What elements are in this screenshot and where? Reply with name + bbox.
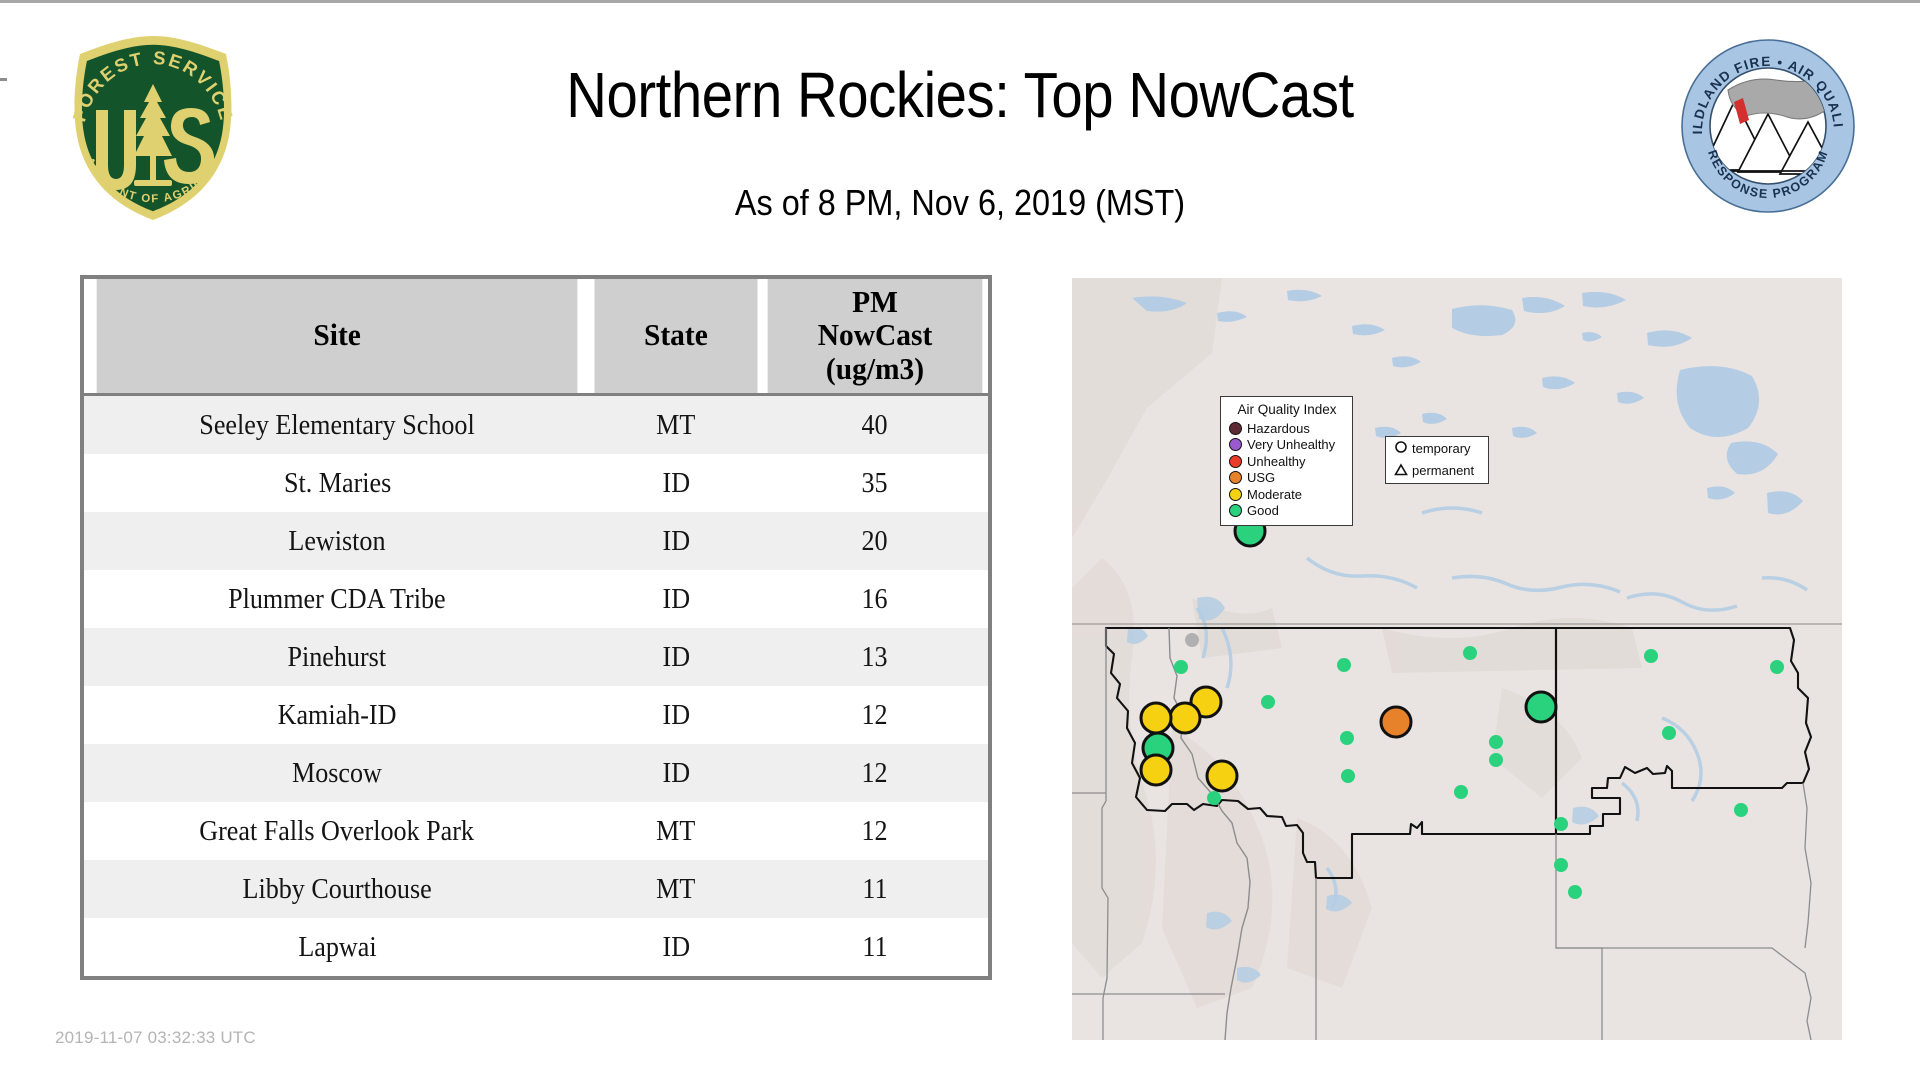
- legend-item-unhealthy: Unhealthy: [1229, 453, 1345, 470]
- table-cell-value-text: 35: [862, 469, 888, 498]
- table-cell-value-text: 13: [862, 643, 888, 672]
- table-cell-value-text: 11: [862, 875, 887, 904]
- legend-permanent-row: permanent: [1386, 459, 1488, 481]
- column-header-state-label: State: [644, 317, 708, 352]
- monitor-point[interactable]: [1170, 703, 1200, 733]
- table-cell-value-text: 40: [862, 411, 888, 440]
- monitor-point[interactable]: [1554, 858, 1568, 872]
- table-cell-value: 35: [762, 454, 988, 512]
- table-row: Plummer CDA TribeID16: [84, 570, 988, 628]
- legend-temporary-row: temporary: [1386, 437, 1488, 459]
- legend-item-label: Very Unhealthy: [1247, 438, 1335, 451]
- table-cell-state: MT: [590, 802, 762, 860]
- table-row: MoscowID12: [84, 744, 988, 802]
- legend-permanent-label: permanent: [1412, 464, 1474, 477]
- table-cell-state: ID: [590, 628, 762, 686]
- table-cell-state-text: ID: [662, 643, 690, 672]
- monitor-point[interactable]: [1174, 660, 1188, 674]
- monitor-point[interactable]: [1341, 769, 1355, 783]
- legend-item-very-unhealthy: Very Unhealthy: [1229, 437, 1345, 454]
- table-cell-site-text: Great Falls Overlook Park: [200, 817, 475, 846]
- legend-item-label: USG: [1247, 471, 1275, 484]
- table-cell-site-text: St. Maries: [283, 469, 390, 498]
- table-cell-state: ID: [590, 454, 762, 512]
- monitor-point[interactable]: [1141, 703, 1171, 733]
- table-cell-state: MT: [590, 860, 762, 918]
- table-cell-site-text: Pinehurst: [288, 643, 387, 672]
- table-cell-value: 40: [762, 395, 988, 455]
- circle-outline-icon: [1390, 441, 1412, 455]
- table-row: LewistonID20: [84, 512, 988, 570]
- table-cell-state-text: ID: [662, 933, 690, 962]
- table-cell-site: Pinehurst: [84, 628, 590, 686]
- monitor-point[interactable]: [1526, 692, 1556, 722]
- table-cell-site-text: Libby Courthouse: [242, 875, 431, 904]
- table-row: St. MariesID35: [84, 454, 988, 512]
- table-cell-value-text: 20: [862, 527, 888, 556]
- legend-color-swatch-icon: [1229, 438, 1242, 451]
- legend-temporary-label: temporary: [1412, 442, 1471, 455]
- table-cell-value: 11: [762, 860, 988, 918]
- table-cell-site: Moscow: [84, 744, 590, 802]
- table-cell-site-text: Seeley Elementary School: [199, 411, 474, 440]
- page-title: Northern Rockies: Top NowCast: [379, 62, 1541, 129]
- table-cell-site-text: Moscow: [292, 759, 382, 788]
- table-row: LapwaiID11: [84, 918, 988, 976]
- legend-title: Air Quality Index: [1229, 402, 1345, 417]
- air-quality-index-legend: Air Quality Index HazardousVery Unhealth…: [1220, 396, 1353, 526]
- table-cell-site: Libby Courthouse: [84, 860, 590, 918]
- table-row: Kamiah-IDID12: [84, 686, 988, 744]
- legend-color-swatch-icon: [1229, 504, 1242, 517]
- column-header-state: State: [595, 279, 758, 395]
- site-type-legend: temporary permanent: [1385, 436, 1489, 484]
- table-cell-value: 16: [762, 570, 988, 628]
- legend-item-label: Hazardous: [1247, 422, 1310, 435]
- monitor-point[interactable]: [1337, 658, 1351, 672]
- table-cell-state-text: ID: [662, 701, 690, 730]
- column-header-pm-line2: NowCast: [768, 318, 983, 351]
- table-cell-state-text: ID: [662, 469, 690, 498]
- table-row: PinehurstID13: [84, 628, 988, 686]
- table-cell-site: Seeley Elementary School: [84, 395, 590, 455]
- monitor-point[interactable]: [1568, 885, 1582, 899]
- table-cell-value-text: 16: [862, 585, 888, 614]
- legend-color-swatch-icon: [1229, 455, 1242, 468]
- table-cell-site-text: Lewiston: [289, 527, 386, 556]
- table-cell-state: ID: [590, 744, 762, 802]
- legend-item-usg: USG: [1229, 470, 1345, 487]
- column-header-pm-nowcast: PM NowCast (ug/m3): [768, 279, 983, 395]
- triangle-outline-icon: [1390, 463, 1412, 477]
- monitor-point[interactable]: [1662, 726, 1676, 740]
- table-cell-site: Kamiah-ID: [84, 686, 590, 744]
- monitor-point[interactable]: [1454, 785, 1468, 799]
- legend-item-good: Good: [1229, 503, 1345, 520]
- table-row: Great Falls Overlook ParkMT12: [84, 802, 988, 860]
- table-cell-site: Lapwai: [84, 918, 590, 976]
- table-cell-value: 20: [762, 512, 988, 570]
- table-cell-site: Plummer CDA Tribe: [84, 570, 590, 628]
- table-cell-state-text: MT: [657, 411, 696, 440]
- column-header-site: Site: [97, 279, 578, 395]
- table-cell-value: 13: [762, 628, 988, 686]
- table-cell-value-text: 12: [862, 701, 888, 730]
- table-cell-state-text: MT: [657, 817, 696, 846]
- table-cell-site-text: Kamiah-ID: [278, 701, 397, 730]
- table-cell-state: MT: [590, 395, 762, 455]
- monitor-point[interactable]: [1261, 695, 1275, 709]
- table-cell-state-text: ID: [662, 527, 690, 556]
- table-cell-state: ID: [590, 686, 762, 744]
- legend-item-hazardous: Hazardous: [1229, 420, 1345, 437]
- table-cell-state: ID: [590, 918, 762, 976]
- monitor-point[interactable]: [1207, 761, 1237, 791]
- column-header-pm-line1: PM: [768, 285, 983, 318]
- usfs-shield-logo: FOREST SERVICE DEPARTMENT OF AGRICULTURE: [58, 32, 248, 224]
- table-cell-site: Lewiston: [84, 512, 590, 570]
- table-cell-state-text: ID: [662, 759, 690, 788]
- monitor-point[interactable]: [1340, 731, 1354, 745]
- monitor-point[interactable]: [1207, 791, 1221, 805]
- table-row: Libby CourthouseMT11: [84, 860, 988, 918]
- legend-color-swatch-icon: [1229, 488, 1242, 501]
- legend-color-swatch-icon: [1229, 471, 1242, 484]
- monitor-point[interactable]: [1489, 753, 1503, 767]
- table-cell-value: 12: [762, 686, 988, 744]
- footer-timestamp: 2019-11-07 03:32:33 UTC: [55, 1028, 256, 1048]
- table-cell-value: 11: [762, 918, 988, 976]
- table-cell-value-text: 12: [862, 817, 888, 846]
- table-cell-value-text: 11: [862, 933, 887, 962]
- legend-item-label: Unhealthy: [1247, 455, 1306, 468]
- monitor-point[interactable]: [1770, 660, 1784, 674]
- monitor-point[interactable]: [1381, 707, 1411, 737]
- monitor-point[interactable]: [1185, 633, 1199, 647]
- legend-item-label: Moderate: [1247, 488, 1302, 501]
- table-cell-site-text: Plummer CDA Tribe: [228, 585, 446, 614]
- table-cell-site: St. Maries: [84, 454, 590, 512]
- column-header-pm-line3: (ug/m3): [768, 352, 983, 385]
- table-cell-value: 12: [762, 744, 988, 802]
- table-cell-state: ID: [590, 512, 762, 570]
- table-cell-value: 12: [762, 802, 988, 860]
- monitor-point[interactable]: [1554, 817, 1568, 831]
- left-edge-tick: [0, 78, 7, 81]
- monitor-point[interactable]: [1644, 649, 1658, 663]
- legend-color-swatch-icon: [1229, 422, 1242, 435]
- table-cell-state-text: ID: [662, 585, 690, 614]
- table-cell-value-text: 12: [862, 759, 888, 788]
- table-cell-site-text: Lapwai: [298, 933, 376, 962]
- page-subtitle: As of 8 PM, Nov 6, 2019 (MST): [366, 182, 1554, 224]
- monitor-point[interactable]: [1141, 755, 1171, 785]
- map-canvas: [1072, 278, 1842, 1040]
- table-header-row: Site State PM NowCast (ug/m3): [84, 279, 988, 395]
- monitor-point[interactable]: [1734, 803, 1748, 817]
- table-cell-site: Great Falls Overlook Park: [84, 802, 590, 860]
- monitor-point[interactable]: [1463, 646, 1477, 660]
- northern-rockies-aqi-map[interactable]: Air Quality Index HazardousVery Unhealth…: [1072, 278, 1842, 1040]
- top-nowcast-table: Site State PM NowCast (ug/m3) Seeley Ele…: [80, 275, 992, 980]
- legend-item-label: Good: [1247, 504, 1279, 517]
- table-cell-state-text: MT: [657, 875, 696, 904]
- legend-item-moderate: Moderate: [1229, 486, 1345, 503]
- table-cell-state: ID: [590, 570, 762, 628]
- wildland-fire-air-quality-response-program-logo: WILDLAND FIRE • AIR QUALITY RESPONSE PRO…: [1680, 38, 1856, 214]
- table-row: Seeley Elementary SchoolMT40: [84, 395, 988, 455]
- column-header-site-label: Site: [313, 317, 360, 352]
- monitor-point[interactable]: [1489, 735, 1503, 749]
